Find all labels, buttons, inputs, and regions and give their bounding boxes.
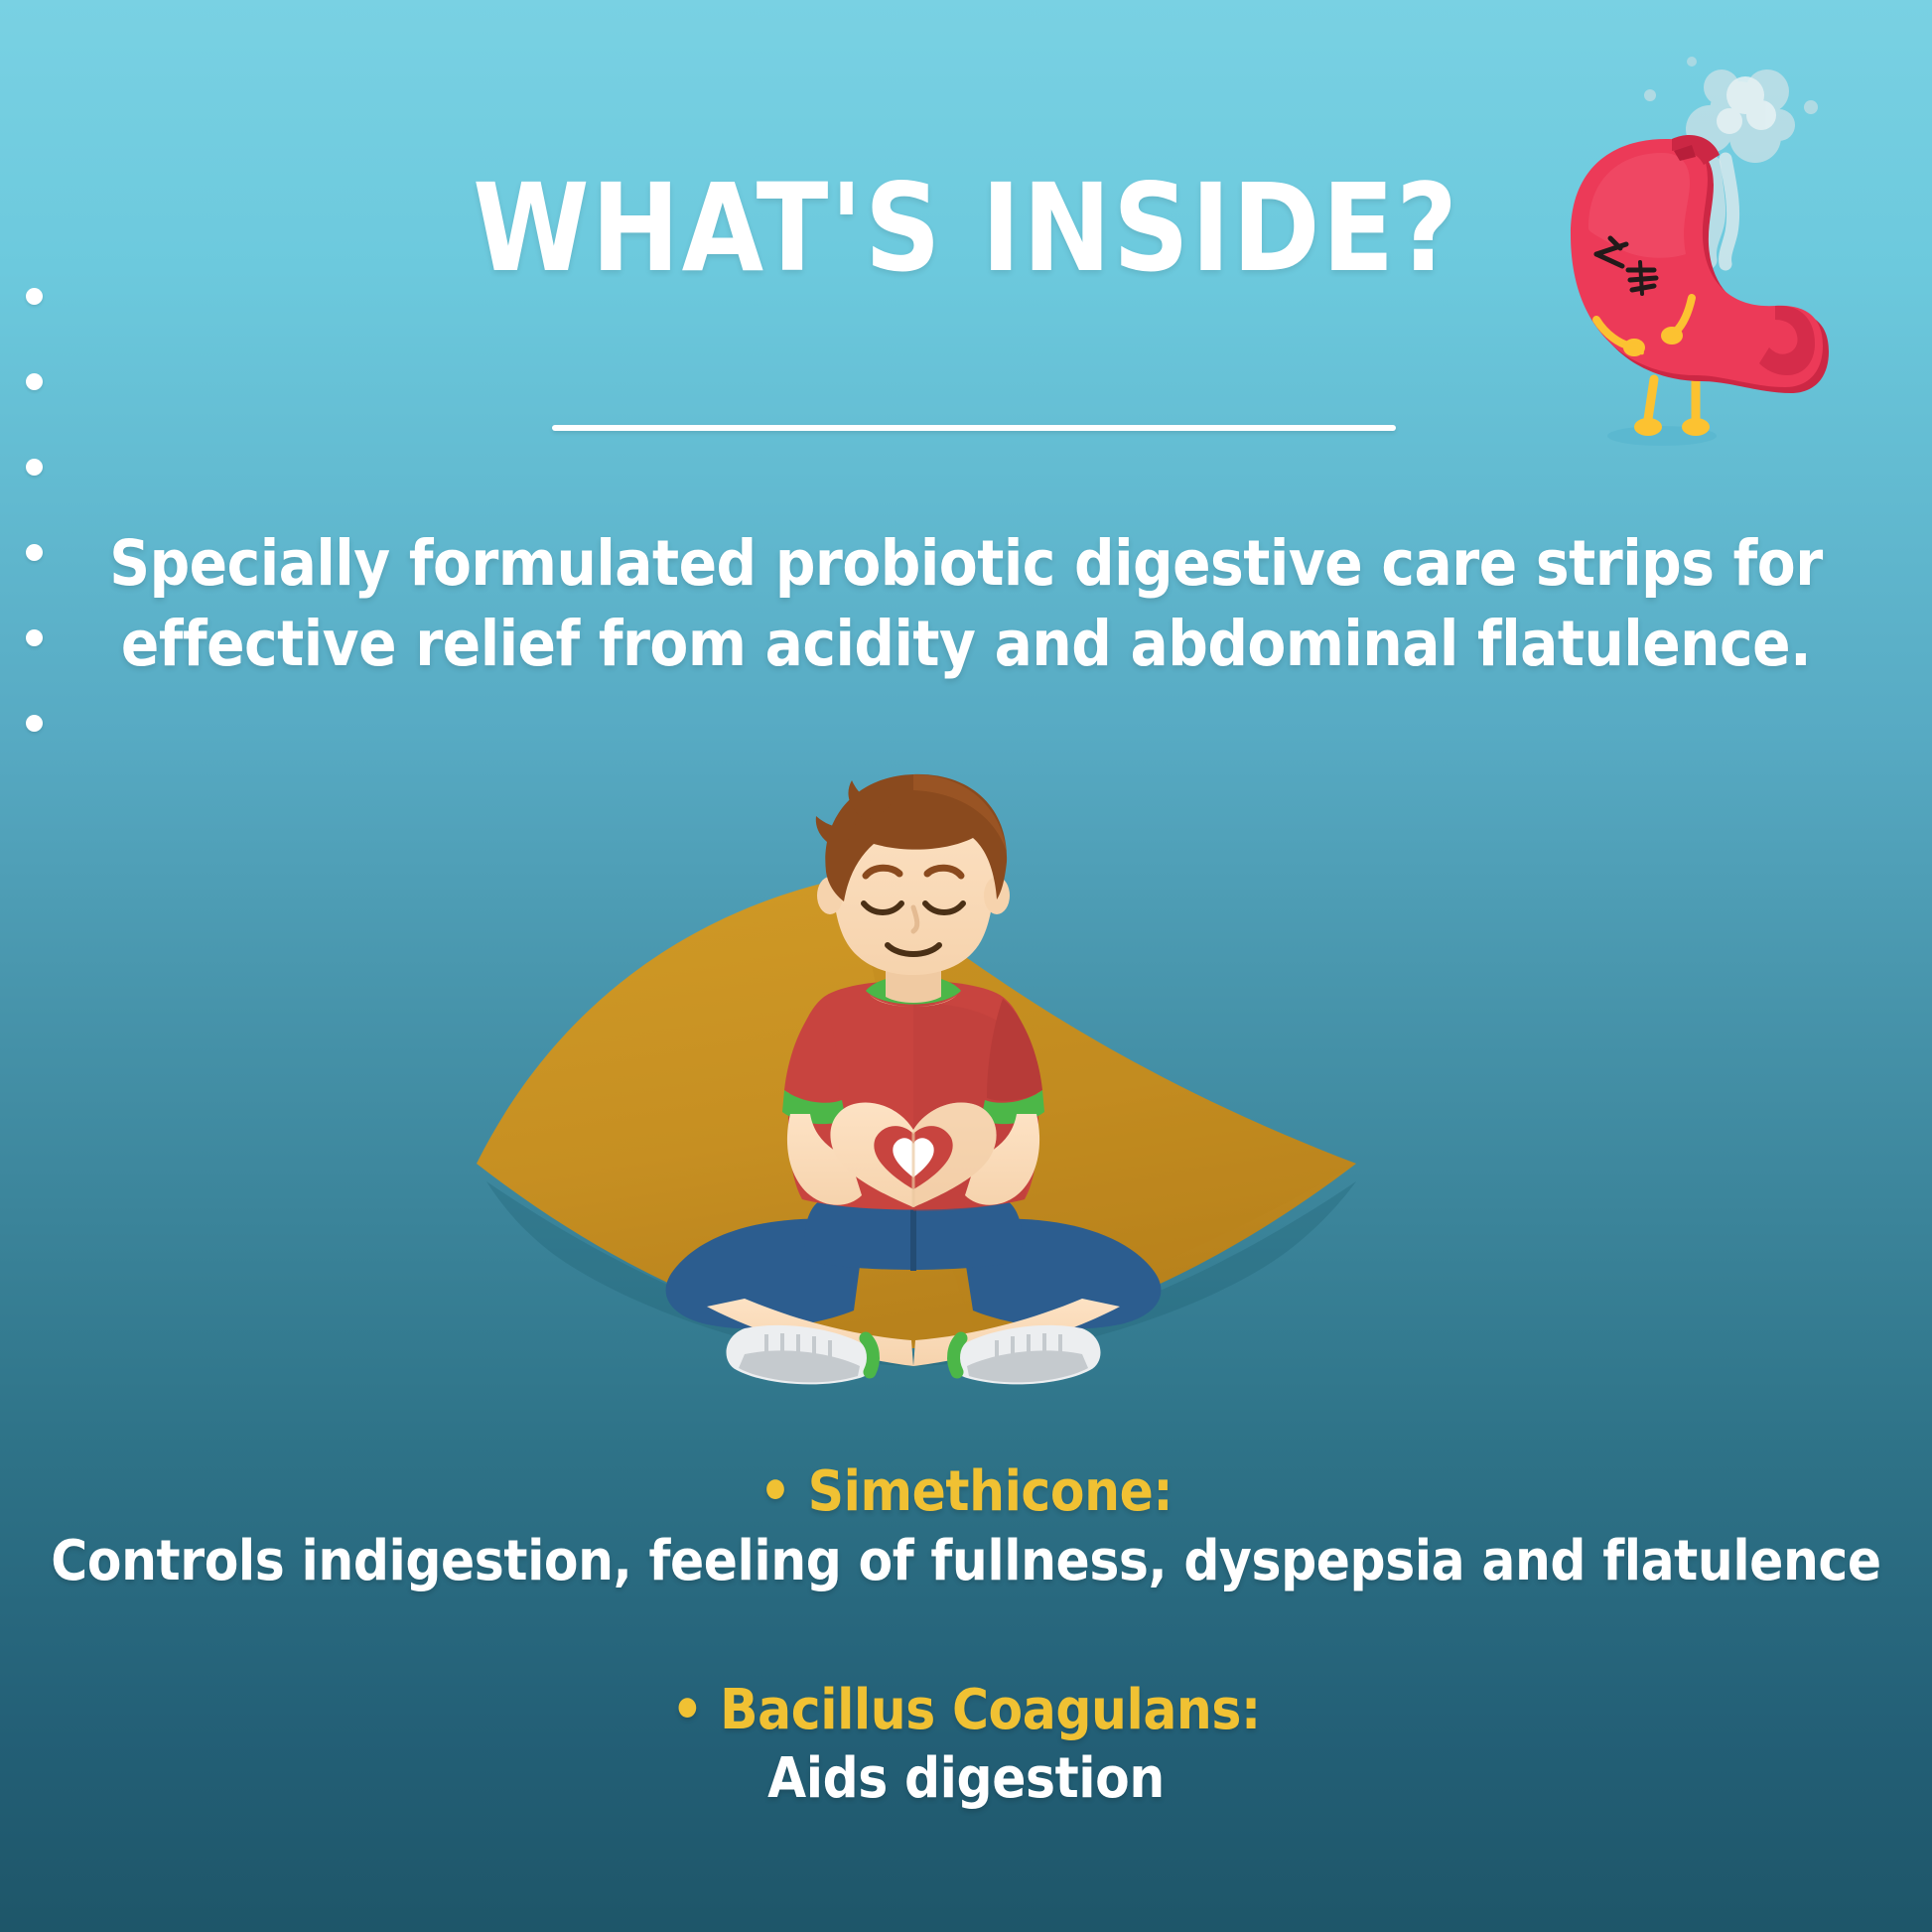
ingredient-heading: • Simethicone: bbox=[0, 1461, 1932, 1524]
decorative-dot bbox=[26, 629, 43, 646]
decorative-dot bbox=[26, 373, 43, 390]
decorative-dot bbox=[26, 715, 43, 732]
title-divider bbox=[552, 425, 1396, 431]
ingredient-description: Controls indigestion, feeling of fullnes… bbox=[0, 1530, 1932, 1594]
ingredients-list: • Simethicone: Controls indigestion, fee… bbox=[0, 1461, 1932, 1812]
decorative-dot bbox=[26, 288, 43, 305]
decorative-dot bbox=[26, 544, 43, 561]
ingredient-description: Aids digestion bbox=[0, 1747, 1932, 1812]
ingredient-item: • Bacillus Coagulans: Aids digestion bbox=[0, 1680, 1932, 1813]
ingredient-item: • Simethicone: Controls indigestion, fee… bbox=[0, 1461, 1932, 1594]
ingredient-heading: • Bacillus Coagulans: bbox=[0, 1680, 1932, 1742]
meditating-person-icon bbox=[417, 755, 1410, 1410]
decorative-dot-column bbox=[26, 288, 50, 800]
intro-paragraph: Specially formulated probiotic digestive… bbox=[85, 524, 1847, 684]
infographic-poster: WHAT'S INSIDE? Specially formulated prob… bbox=[0, 0, 1932, 1932]
decorative-dot bbox=[26, 459, 43, 476]
stomach-character-icon bbox=[1545, 34, 1922, 461]
